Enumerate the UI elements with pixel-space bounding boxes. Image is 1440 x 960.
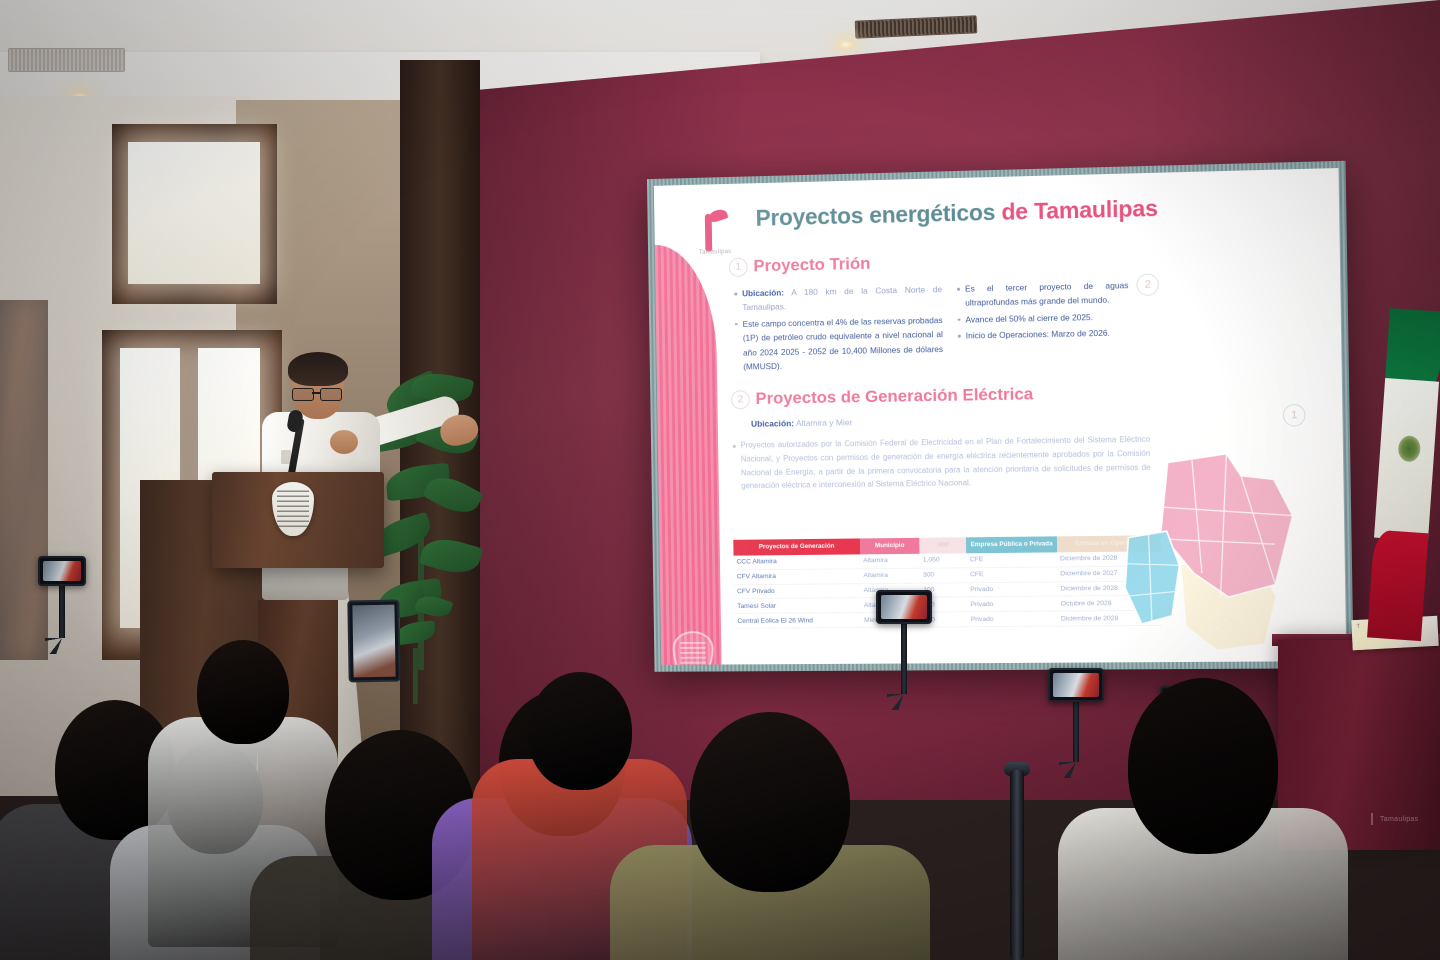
audience-head: [690, 712, 850, 892]
slide-title-part1: Proyectos energéticos: [755, 199, 1001, 231]
stanchion-post: [1010, 770, 1024, 960]
bullet-text: Es el tercer proyecto de aguas ultraprof…: [965, 280, 1129, 308]
downlight-icon: [838, 40, 854, 49]
map-region-blue: [1124, 531, 1180, 624]
table-cell: CFE: [967, 552, 1057, 567]
tamaulipas-map: [1121, 444, 1328, 658]
table-cell: Privado: [967, 596, 1057, 612]
table-cell: Privado: [967, 582, 1057, 598]
tamaulipas-t-icon: [1368, 813, 1376, 825]
location-value: Altamira y Mier: [794, 417, 852, 428]
coat-of-arms-watermark: [672, 631, 714, 665]
tamaulipas-logo-icon: Tamaulipas: [689, 203, 741, 262]
table-cell: Altamira: [860, 568, 920, 583]
dais-brand-logo: Tamaulipas: [1368, 812, 1428, 826]
section-1-number: 1: [729, 257, 748, 276]
section-1-heading: 1 Proyecto Trión: [729, 254, 871, 277]
phone-camera-far-left: [38, 556, 86, 654]
table-cell: 1,050: [920, 553, 967, 568]
bullet-label: Ubicación:: [742, 288, 784, 299]
section-1-left-bullets: Ubicación: A 180 km de la Costa Norte de…: [733, 282, 943, 376]
glasses-icon: [292, 388, 344, 399]
table-body: CCC AltamiraAltamira1,050CFEDiciembre de…: [734, 551, 1163, 628]
air-vent-icon: [8, 48, 125, 72]
table-cell: Tamesí Solar: [734, 598, 861, 614]
table-header-cell: Municipio: [860, 538, 920, 555]
bullet-item: Es el tercer proyecto de aguas ultraprof…: [956, 278, 1129, 311]
table-cell: Central Eólica El 26 Wind: [734, 613, 861, 629]
audience-member: [610, 712, 930, 960]
slide-title: Proyectos energéticos de Tamaulipas: [755, 195, 1158, 232]
audience-head: [197, 640, 289, 744]
section-2-heading: 2 Proyectos de Generación Eléctrica: [731, 384, 1033, 409]
phone-camera-left: [876, 590, 932, 710]
speaker-left-hand: [330, 430, 358, 454]
section-2-location: Ubicación: Altamira y Mier: [751, 417, 852, 429]
table-header-cell: MW: [919, 537, 966, 553]
bullet-text: Inicio de Operaciones: Marzo de 2026.: [966, 328, 1110, 341]
table-cell: Altamira: [860, 554, 920, 569]
bullet-item: Este campo concentra el 4% de las reserv…: [734, 313, 944, 374]
table-row: Central Eólica El 26 WindMier130PrivadoD…: [734, 610, 1162, 628]
table-cell: CFE: [967, 567, 1057, 583]
dais-brand-label: Tamaulipas: [1380, 816, 1418, 823]
slide-marker-1-mid: 1: [1283, 404, 1306, 427]
section-1-title: Proyecto Trión: [753, 254, 870, 276]
table-cell: CCC Altamira: [734, 554, 861, 569]
bullet-item: Avance del 50% al cierre de 2025.: [956, 309, 1129, 327]
audience-member: [1058, 678, 1348, 960]
slide-title-part2: de Tamaulipas: [1001, 195, 1158, 225]
slide-pink-decoration: [655, 244, 722, 665]
bullet-item: Ubicación: A 180 km de la Costa Norte de…: [733, 282, 942, 315]
projection-screen: Tamaulipas Proyectos energéticos de Tama…: [647, 161, 1354, 672]
table-header-cell: Proyectos de Generación: [733, 538, 860, 555]
slide-content: Tamaulipas Proyectos energéticos de Tama…: [654, 168, 1346, 665]
audience-head: [1128, 678, 1278, 854]
section-2-number: 2: [731, 390, 750, 409]
section-2-paragraph: Proyectos autorizados por la Comisión Fe…: [732, 433, 1151, 494]
speaker-hair: [288, 352, 348, 386]
table-cell: CFV Privado: [734, 583, 861, 599]
window-light: [128, 142, 260, 284]
table-cell: CFV Altamira: [734, 569, 861, 585]
tamaulipas-logo-label: Tamaulipas: [690, 249, 741, 256]
location-label: Ubicación:: [751, 418, 794, 429]
slide-marker-2-top: 2: [1136, 273, 1159, 296]
table-cell: 300: [920, 568, 967, 583]
map-region-pink: [1159, 453, 1294, 598]
phone-camera-podium: [347, 600, 400, 683]
generation-projects-table: Proyectos de Generación Municipio MW Emp…: [733, 535, 1162, 629]
section-2-title: Proyectos de Generación Eléctrica: [755, 384, 1033, 409]
table-header-cell: Empresa Pública o Privada: [966, 536, 1057, 553]
bullet-text: Avance del 50% al cierre de 2025.: [965, 312, 1093, 325]
presentation-room-photo: Tamaulipas Proyectos energéticos de Tama…: [0, 0, 1440, 960]
section-1-right-bullets: Es el tercer proyecto de aguas ultraprof…: [956, 278, 1129, 345]
table-cell: Privado: [968, 611, 1058, 626]
bullet-text: Este campo concentra el 4% de las reserv…: [743, 315, 944, 372]
bullet-item: Inicio de Operaciones: Marzo de 2026.: [957, 326, 1130, 344]
